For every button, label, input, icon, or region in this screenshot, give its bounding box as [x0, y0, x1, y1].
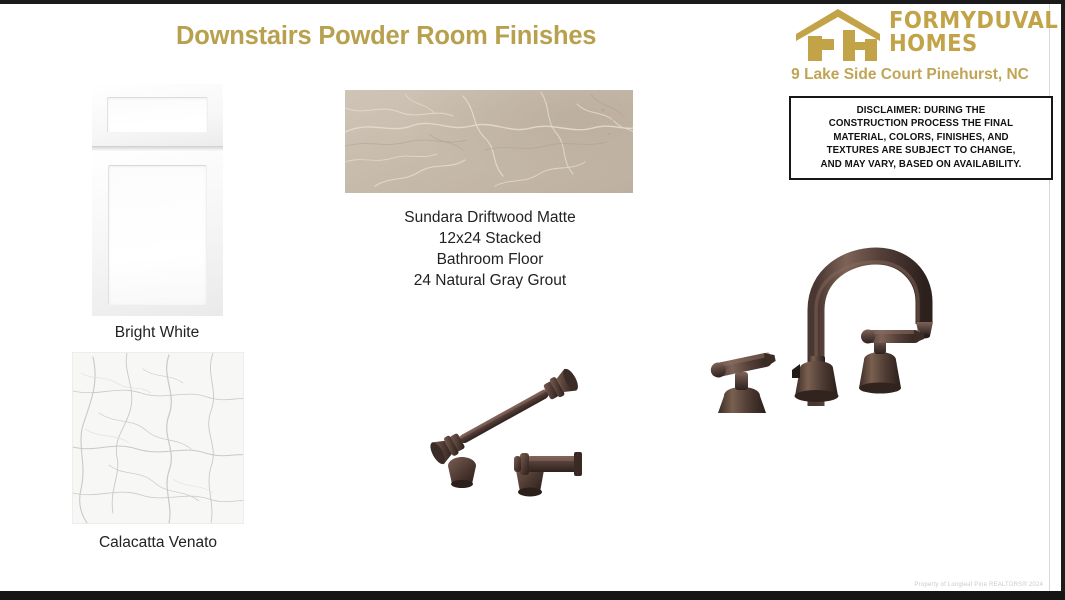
tile-caption-line: Sundara Driftwood Matte: [355, 207, 625, 228]
footer-watermark: Property of Longleaf Pine REALTORS® 2024: [914, 582, 1043, 588]
tile-caption-line: Bathroom Floor: [355, 249, 625, 270]
fh-house-logo-icon: [795, 8, 881, 62]
cabinet-door-panel: [108, 165, 207, 305]
quartz-sample-label: Calacatta Venato: [48, 532, 268, 553]
tile-caption-line: 12x24 Stacked: [355, 228, 625, 249]
page-title: Downstairs Powder Room Finishes: [176, 22, 676, 51]
finish-board: Downstairs Powder Room Finishes FORMYDUV…: [0, 0, 1065, 600]
brand-name-line2: HOMES: [889, 33, 1058, 56]
quartz-slab-sample: [72, 352, 244, 524]
brand-name: FORMYDUVAL HOMES: [889, 10, 1058, 56]
cabinet-drawer-front: [92, 84, 223, 147]
disclaimer-line: MATERIAL, COLORS, FINISHES, AND: [795, 131, 1047, 144]
tile-sample-caption: Sundara Driftwood Matte 12x24 Stacked Ba…: [355, 207, 625, 291]
cabinet-door-sample: [92, 84, 223, 316]
tile-caption-line: 24 Natural Gray Grout: [355, 270, 625, 291]
disclaimer-line: TEXTURES ARE SUBJECT TO CHANGE,: [795, 144, 1047, 157]
brand-block: FORMYDUVAL HOMES: [795, 6, 1055, 64]
cabinet-pull-sample: [420, 362, 590, 507]
top-edge-strip: [0, 0, 1065, 4]
disclaimer-box: DISCLAIMER: DURING THE CONSTRUCTION PROC…: [789, 96, 1053, 180]
right-inner-margin: [1049, 4, 1061, 591]
faucet-sample: [688, 238, 943, 413]
brand-address: 9 Lake Side Court Pinehurst, NC: [760, 66, 1060, 84]
tile-sample: [345, 90, 633, 193]
disclaimer-line: AND MAY VARY, BASED ON AVAILABILITY.: [795, 158, 1047, 171]
cabinet-sample-label: Bright White: [47, 322, 267, 343]
right-edge-strip: [1061, 4, 1065, 591]
bottom-edge-strip: [0, 591, 1065, 600]
disclaimer-line: CONSTRUCTION PROCESS THE FINAL: [795, 117, 1047, 130]
cabinet-door-front: [92, 151, 223, 316]
disclaimer-line: DISCLAIMER: DURING THE: [795, 104, 1047, 117]
cabinet-drawer-panel: [107, 97, 208, 133]
